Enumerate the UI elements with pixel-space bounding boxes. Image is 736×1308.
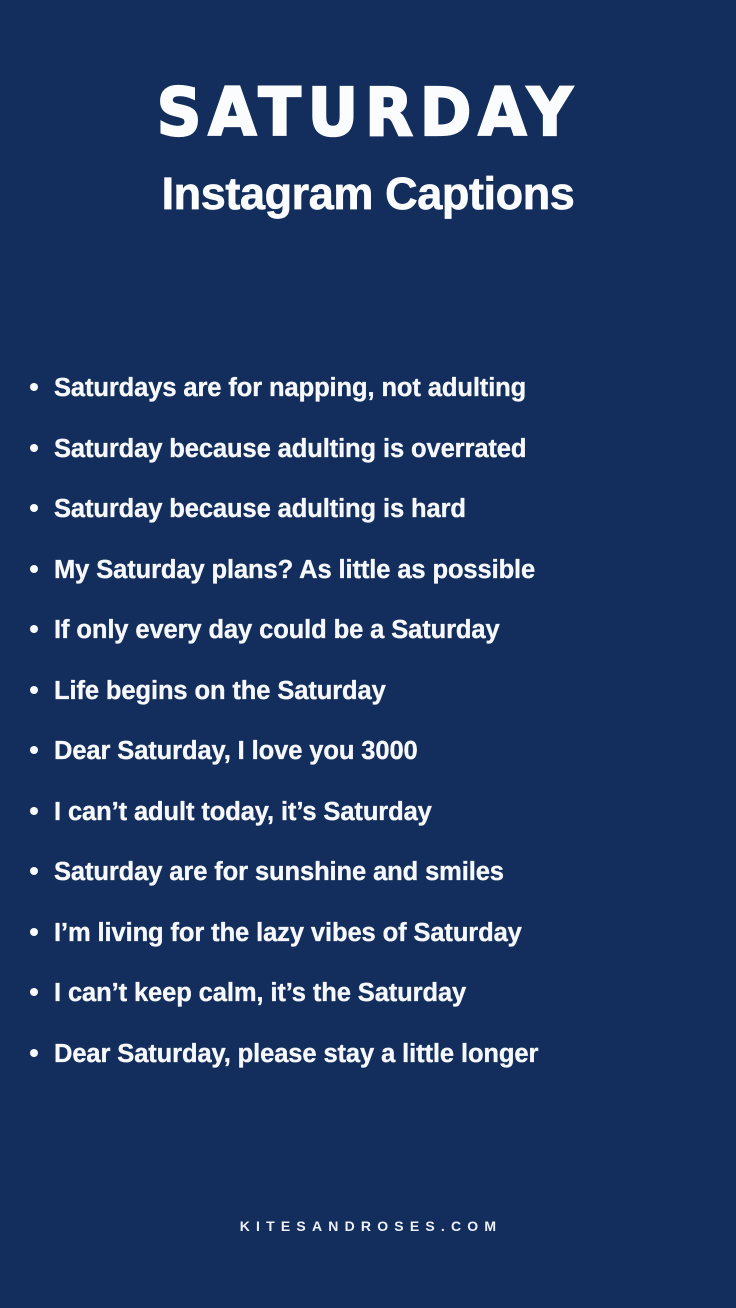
poster-canvas: SATURDAY Instagram Captions Saturdays ar… [0, 0, 736, 1308]
poster-footer: KITESANDROSES.COM [0, 1218, 736, 1236]
caption-text: I can’t keep calm, it’s the Saturday [54, 978, 706, 1008]
bullet-icon [30, 555, 54, 585]
caption-text: Saturday because adulting is hard [54, 494, 706, 524]
list-item: I can’t adult today, it’s Saturday [30, 797, 706, 858]
caption-text: Saturdays are for napping, not adulting [54, 373, 706, 403]
bullet-icon [30, 918, 54, 948]
list-item: Dear Saturday, I love you 3000 [30, 736, 706, 797]
bullet-icon [30, 494, 54, 524]
page-title: SATURDAY [0, 78, 736, 147]
caption-text: My Saturday plans? As little as possible [54, 555, 706, 585]
bullet-icon [30, 857, 54, 887]
caption-text: Dear Saturday, I love you 3000 [54, 736, 706, 766]
list-item: I’m living for the lazy vibes of Saturda… [30, 918, 706, 979]
bullet-icon [30, 797, 54, 827]
bullet-icon [30, 736, 54, 766]
page-subtitle: Instagram Captions [0, 169, 736, 219]
bullet-icon [30, 1039, 54, 1069]
caption-text: If only every day could be a Saturday [54, 615, 706, 645]
list-item: Saturday because adulting is hard [30, 494, 706, 555]
caption-list: Saturdays are for napping, not adulting … [30, 373, 706, 1099]
poster-header: SATURDAY Instagram Captions [0, 0, 736, 219]
list-item: Saturday are for sunshine and smiles [30, 857, 706, 918]
website-watermark: KITESANDROSES.COM [234, 1218, 503, 1234]
list-item: If only every day could be a Saturday [30, 615, 706, 676]
list-item: I can’t keep calm, it’s the Saturday [30, 978, 706, 1039]
bullet-icon [30, 373, 54, 403]
caption-text: Saturday are for sunshine and smiles [54, 857, 706, 887]
list-item: My Saturday plans? As little as possible [30, 555, 706, 616]
list-item: Saturday because adulting is overrated [30, 434, 706, 495]
bullet-icon [30, 615, 54, 645]
caption-text: Saturday because adulting is overrated [54, 434, 706, 464]
bullet-icon [30, 434, 54, 464]
caption-text: I can’t adult today, it’s Saturday [54, 797, 706, 827]
list-item: Life begins on the Saturday [30, 676, 706, 737]
bullet-icon [30, 978, 54, 1008]
caption-text: Dear Saturday, please stay a little long… [54, 1039, 706, 1069]
list-item: Dear Saturday, please stay a little long… [30, 1039, 706, 1100]
bullet-icon [30, 676, 54, 706]
list-item: Saturdays are for napping, not adulting [30, 373, 706, 434]
caption-text: I’m living for the lazy vibes of Saturda… [54, 918, 706, 948]
caption-text: Life begins on the Saturday [54, 676, 706, 706]
